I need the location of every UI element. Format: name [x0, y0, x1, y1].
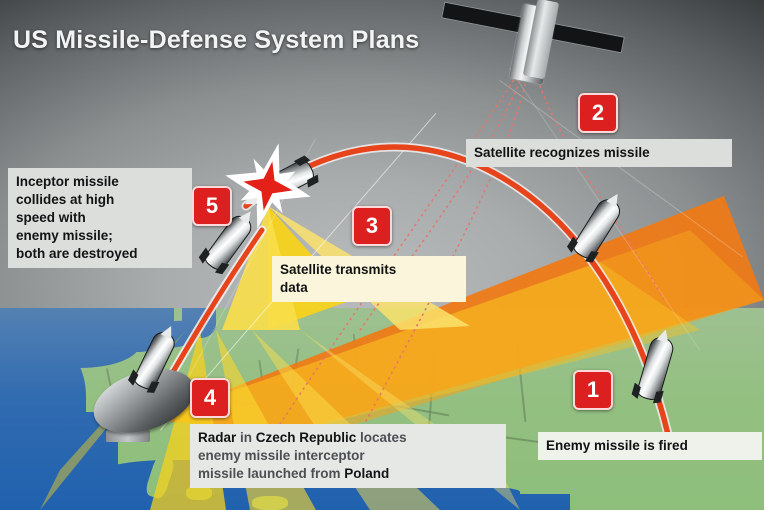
- step-label-1: Enemy missile is fired: [538, 432, 762, 460]
- step-label-5-line4: enemy missile;: [16, 227, 184, 245]
- step-badge-3: 3: [352, 206, 392, 246]
- step-label-4-locates: locates: [356, 430, 406, 445]
- step-label-3: Satellite transmits data: [272, 256, 466, 302]
- step-label-3-line1: Satellite transmits: [280, 261, 458, 279]
- step-badge-1: 1: [573, 370, 613, 410]
- step-label-5-line1: Inceptor missile: [16, 173, 184, 191]
- step-badge-2: 2: [578, 93, 618, 133]
- step-label-1-text: Enemy missile is fired: [546, 438, 688, 453]
- step-label-5: Inceptor missile collides at high speed …: [8, 168, 192, 268]
- step-label-4-czech: Czech Republic: [256, 430, 357, 445]
- step-label-4: Radar in Czech Republic locates enemy mi…: [190, 424, 506, 488]
- step-label-5-line5: both are destroyed: [16, 245, 184, 263]
- step-label-5-line2: collides at high: [16, 191, 184, 209]
- step-label-5-line3: speed with: [16, 209, 184, 227]
- infographic-canvas: US Missile-Defense System Plans 1 Enemy …: [0, 0, 764, 510]
- step-label-4-radar: Radar: [198, 430, 236, 445]
- explosion-burst: [222, 140, 314, 232]
- step-label-4-line1: Radar in Czech Republic locates: [198, 429, 498, 447]
- step-badge-4: 4: [190, 378, 230, 418]
- step-label-4-launched: missile launched from: [198, 466, 344, 481]
- satellite: [470, 0, 590, 108]
- step-label-4-line2: enemy missile interceptor: [198, 447, 498, 465]
- step-label-4-in: in: [236, 430, 256, 445]
- step-label-2: Satellite recognizes missile: [466, 139, 732, 167]
- step-label-4-poland: Poland: [344, 466, 389, 481]
- page-title: US Missile-Defense System Plans: [13, 26, 419, 55]
- step-label-4-line3: missile launched from Poland: [198, 465, 498, 483]
- step-badge-5: 5: [192, 186, 232, 226]
- step-label-3-line2: data: [280, 279, 458, 297]
- step-label-2-text: Satellite recognizes missile: [474, 145, 650, 160]
